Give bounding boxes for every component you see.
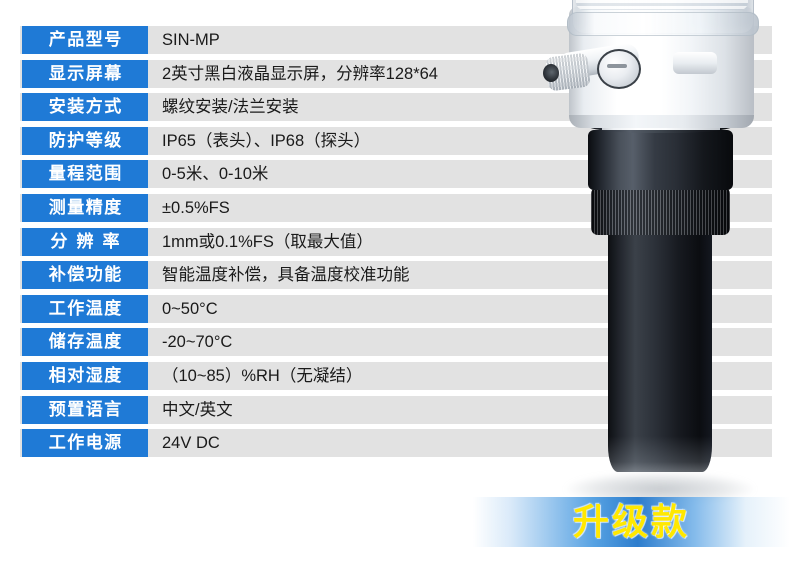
spec-value: 中文/英文 xyxy=(162,396,233,424)
spec-value: 1mm或0.1%FS（取最大值） xyxy=(162,228,373,256)
spec-label: 储存温度 xyxy=(22,328,148,356)
spec-label: 安装方式 xyxy=(22,93,148,121)
spec-value: SIN-MP xyxy=(162,26,220,54)
spec-label: 分辨率 xyxy=(22,228,148,256)
spec-label: 测量精度 xyxy=(22,194,148,222)
spec-label: 预置语言 xyxy=(22,396,148,424)
spec-value: （10~85）%RH（无凝结） xyxy=(162,362,362,390)
spec-label: 产品型号 xyxy=(22,26,148,54)
spec-row: 补偿功能智能温度补偿，具备温度校准功能 xyxy=(0,261,790,289)
spec-value: 0-5米、0-10米 xyxy=(162,160,268,188)
product-spec-page: 产品型号SIN-MP显示屏幕2英寸黑白液晶显示屏，分辨率128*64安装方式螺纹… xyxy=(0,0,790,572)
spec-row: 测量精度±0.5%FS xyxy=(0,194,790,222)
dome-ridges xyxy=(576,0,748,10)
spec-row: 分辨率1mm或0.1%FS（取最大值） xyxy=(0,228,790,256)
spec-value: 2英寸黑白液晶显示屏，分辨率128*64 xyxy=(162,60,438,88)
spec-label: 相对湿度 xyxy=(22,362,148,390)
spec-row: 安装方式螺纹安装/法兰安装 xyxy=(0,93,790,121)
upgrade-banner: 升级款 xyxy=(473,497,790,547)
spec-row: 产品型号SIN-MP xyxy=(0,26,790,54)
spec-row: 预置语言中文/英文 xyxy=(0,396,790,424)
spec-label: 量程范围 xyxy=(22,160,148,188)
spec-row: 储存温度-20~70°C xyxy=(0,328,790,356)
upgrade-banner-label: 升级款 xyxy=(473,497,790,547)
spec-value: 24V DC xyxy=(162,429,220,457)
spec-row: 工作电源24V DC xyxy=(0,429,790,457)
spec-label: 工作温度 xyxy=(22,295,148,323)
spec-value: 螺纹安装/法兰安装 xyxy=(162,93,299,121)
spec-label: 显示屏幕 xyxy=(22,60,148,88)
spec-value: -20~70°C xyxy=(162,328,232,356)
spec-row: 工作温度0~50°C xyxy=(0,295,790,323)
spec-value: 智能温度补偿，具备温度校准功能 xyxy=(162,261,410,289)
spec-value: IP65（表头）、IP68（探头） xyxy=(162,127,370,155)
spec-value: ±0.5%FS xyxy=(162,194,230,222)
spec-value: 0~50°C xyxy=(162,295,218,323)
spec-label: 防护等级 xyxy=(22,127,148,155)
spec-label: 工作电源 xyxy=(22,429,148,457)
spec-row: 显示屏幕2英寸黑白液晶显示屏，分辨率128*64 xyxy=(0,60,790,88)
spec-label: 补偿功能 xyxy=(22,261,148,289)
spec-row: 相对湿度（10~85）%RH（无凝结） xyxy=(0,362,790,390)
spec-row: 防护等级IP65（表头）、IP68（探头） xyxy=(0,127,790,155)
spec-row: 量程范围0-5米、0-10米 xyxy=(0,160,790,188)
